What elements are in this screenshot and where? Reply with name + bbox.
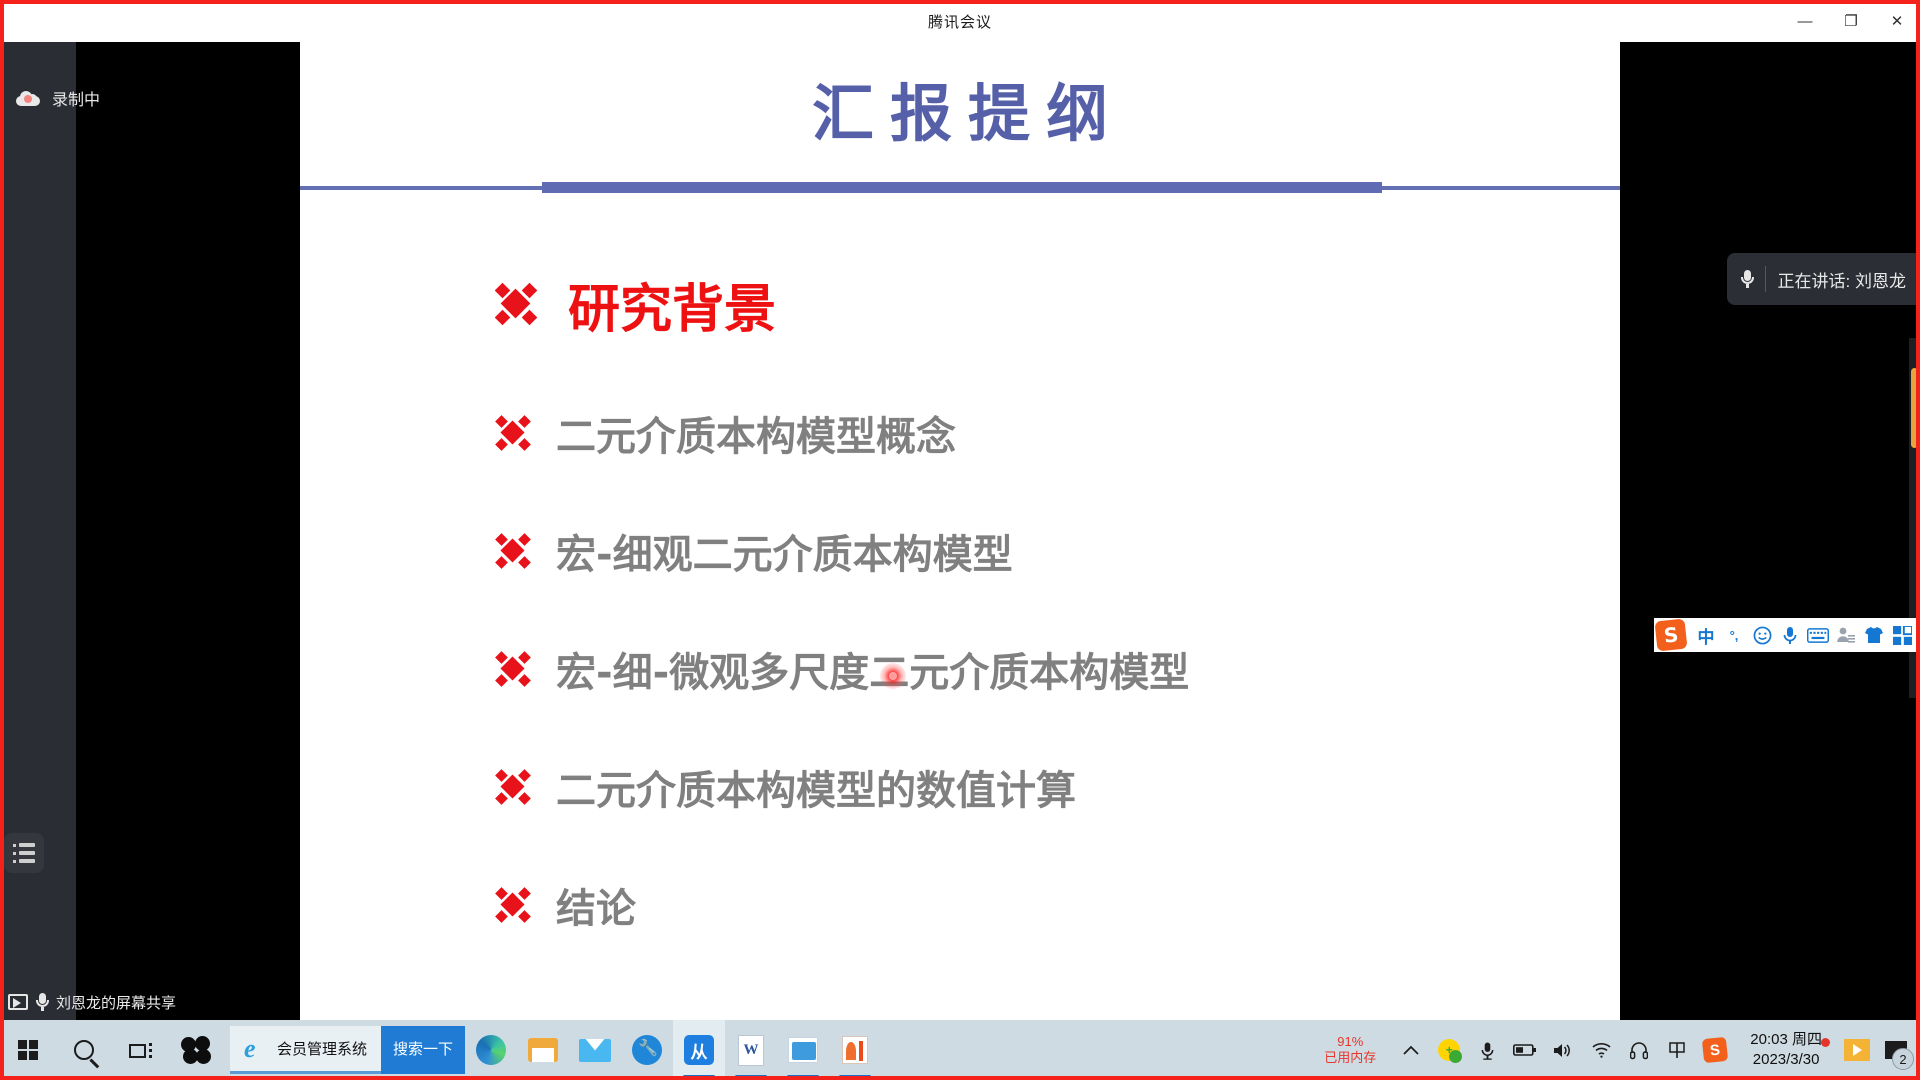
- diamond-bullet-icon: [496, 888, 530, 922]
- diamond-bullet-icon: [496, 534, 530, 568]
- window-titlebar: 腾讯会议 — ❐ ✕: [0, 0, 1920, 42]
- security-shield-icon[interactable]: +: [1430, 1020, 1468, 1080]
- clock-time: 20:03 周四: [1750, 1030, 1822, 1050]
- taskbar-task-search[interactable]: 搜索一下: [381, 1026, 465, 1074]
- window-title: 腾讯会议: [928, 11, 992, 32]
- diamond-bullet-icon: [496, 770, 530, 804]
- clock-date: 2023/3/30: [1753, 1050, 1820, 1070]
- list-item: 研究背景: [300, 234, 1620, 374]
- window-controls: — ❐ ✕: [1782, 0, 1920, 42]
- bullet-label: 宏-细-微观多尺度二元介质本构模型: [556, 640, 1189, 698]
- volume-icon[interactable]: [1544, 1020, 1582, 1080]
- punctuation-mode-icon[interactable]: °,: [1720, 620, 1748, 650]
- slide-bullet-list: 研究背景 二元介质本构模型概念 宏-细观二元介质本构模型: [300, 234, 1620, 964]
- windows-start-icon[interactable]: [0, 1020, 56, 1080]
- presentation-slide: 汇报提纲 研究背景 二元介质本构模型概念: [300, 38, 1620, 1020]
- microphone-icon: [1741, 270, 1753, 288]
- flower-app-icon[interactable]: [168, 1020, 224, 1080]
- slide-title: 汇报提纲: [300, 63, 1620, 153]
- laser-pointer-dot: [880, 663, 906, 689]
- taskbar-clock[interactable]: 20:03 周四 2023/3/30: [1734, 1030, 1838, 1070]
- user-account-icon[interactable]: [1832, 620, 1860, 650]
- cloud-record-icon: [16, 91, 40, 106]
- memory-percent: 91%: [1337, 1034, 1363, 1050]
- bullet-label: 研究背景: [568, 267, 776, 342]
- soft-keyboard-icon[interactable]: [1804, 620, 1832, 650]
- list-item: 宏-细观二元介质本构模型: [300, 492, 1620, 610]
- taskbar-task-member-system[interactable]: e 会员管理系统: [230, 1026, 381, 1074]
- shared-screen-stage: 录制中 汇报提纲 研究背景: [0, 38, 1920, 1020]
- active-speaker-label: 正在讲话: 刘恩龙: [1778, 267, 1906, 292]
- bullet-label: 二元介质本构模型概念: [556, 404, 956, 462]
- memory-label: 已用内存: [1324, 1050, 1376, 1066]
- windows-taskbar: e 会员管理系统 搜索一下 从 W 91% 已用内存 +: [0, 1020, 1920, 1080]
- participant-list-icon[interactable]: [4, 833, 44, 873]
- diamond-bullet-icon: [496, 416, 530, 450]
- battery-icon[interactable]: [1506, 1020, 1544, 1080]
- mail-icon[interactable]: [569, 1020, 621, 1080]
- screen-share-icon: [8, 994, 28, 1010]
- taskbar-task-label: 会员管理系统: [277, 1038, 367, 1059]
- list-item: 二元介质本构模型概念: [300, 374, 1620, 492]
- screen-share-footer: 刘恩龙的屏幕共享: [0, 984, 300, 1020]
- close-button[interactable]: ✕: [1874, 0, 1920, 42]
- tools-icon[interactable]: [621, 1020, 673, 1080]
- word-icon[interactable]: W: [725, 1020, 777, 1080]
- list-item: 二元介质本构模型的数值计算: [300, 728, 1620, 846]
- bullet-label: 结论: [556, 876, 636, 934]
- media-play-icon[interactable]: [1838, 1020, 1876, 1080]
- emoji-icon[interactable]: [1748, 620, 1776, 650]
- list-item: 结论: [300, 846, 1620, 964]
- diamond-bullet-icon: [496, 652, 530, 686]
- active-speaker-chip: 正在讲话: 刘恩龙: [1727, 253, 1920, 305]
- restore-button[interactable]: ❐: [1828, 0, 1874, 42]
- slide-title-divider: [300, 182, 1620, 192]
- memory-usage-indicator[interactable]: 91% 已用内存: [1308, 1034, 1392, 1066]
- microphone-tray-icon[interactable]: [1468, 1020, 1506, 1080]
- internet-explorer-icon: e: [244, 1037, 268, 1061]
- blue-document-icon[interactable]: [777, 1020, 829, 1080]
- sogou-tray-icon[interactable]: S: [1696, 1020, 1734, 1080]
- recording-label: 录制中: [52, 86, 100, 110]
- ime-chinese-icon[interactable]: [1658, 1020, 1696, 1080]
- headset-icon[interactable]: [1620, 1020, 1658, 1080]
- toolbox-icon[interactable]: [1888, 620, 1916, 650]
- sogou-logo-icon[interactable]: S: [1655, 619, 1688, 652]
- minimize-button[interactable]: —: [1782, 0, 1828, 42]
- recording-indicator: 录制中: [16, 86, 100, 110]
- bullet-label: 二元介质本构模型的数值计算: [556, 758, 1076, 816]
- edge-icon[interactable]: [465, 1020, 517, 1080]
- clock-notification-dot: [1821, 1038, 1830, 1047]
- bullet-label: 宏-细观二元介质本构模型: [556, 522, 1013, 580]
- orange-app-icon[interactable]: [829, 1020, 881, 1080]
- file-explorer-icon[interactable]: [517, 1020, 569, 1080]
- notification-center-button[interactable]: 2: [1876, 1020, 1916, 1080]
- tencent-meeting-icon[interactable]: 从: [673, 1020, 725, 1080]
- wifi-icon[interactable]: [1582, 1020, 1620, 1080]
- list-item: 宏-细-微观多尺度二元介质本构模型: [300, 610, 1620, 728]
- diamond-bullet-icon: [496, 284, 536, 324]
- screen-root: 腾讯会议 — ❐ ✕ 录制中 汇报提纲: [0, 0, 1920, 1080]
- taskbar-task-label: 搜索一下: [393, 1038, 453, 1059]
- sogou-ime-toolbar: S 中 °,: [1654, 618, 1920, 652]
- skin-icon[interactable]: [1860, 620, 1888, 650]
- microphone-icon: [36, 993, 48, 1011]
- language-mode-icon[interactable]: 中: [1692, 620, 1720, 650]
- share-footer-label: 刘恩龙的屏幕共享: [56, 992, 176, 1013]
- chevron-up-icon[interactable]: [1392, 1020, 1430, 1080]
- right-scrollbar-thumb[interactable]: [1911, 368, 1918, 448]
- task-view-icon[interactable]: [112, 1020, 168, 1080]
- search-icon[interactable]: [56, 1020, 112, 1080]
- voice-input-icon[interactable]: [1776, 620, 1804, 650]
- notification-count: 2: [1892, 1048, 1914, 1070]
- system-tray: 91% 已用内存 +: [1308, 1020, 1920, 1080]
